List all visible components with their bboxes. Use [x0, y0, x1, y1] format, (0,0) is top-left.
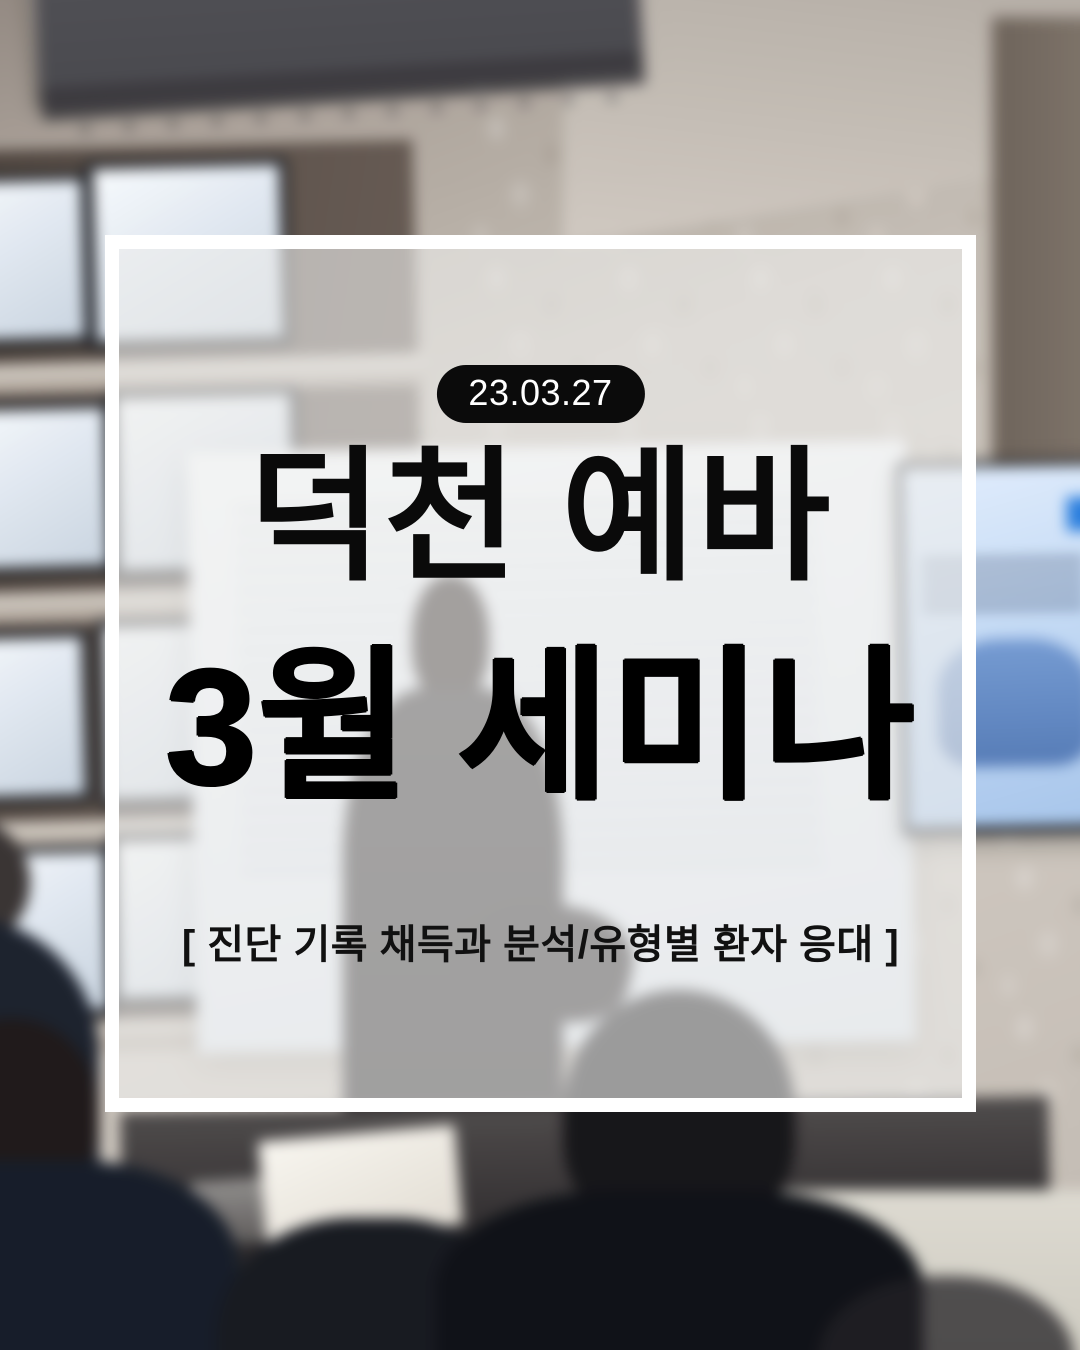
- framed-certificate: [0, 172, 92, 348]
- seminar-poster: 23.03.27 덕천 예바 3월 세미나 [ 진단 기록 채득과 분석/유형별…: [0, 0, 1080, 1350]
- framed-certificate: [0, 401, 115, 577]
- poster-title-line-2: 3월 세미나: [119, 645, 962, 810]
- date-badge: 23.03.27: [436, 365, 644, 423]
- framed-certificate: [0, 630, 92, 806]
- poster-content: 23.03.27 덕천 예바 3월 세미나 [ 진단 기록 채득과 분석/유형별…: [119, 249, 962, 1098]
- poster-title-line-1: 덕천 예바: [119, 445, 962, 590]
- poster-subtitle: [ 진단 기록 채득과 분석/유형별 환자 응대 ]: [119, 921, 962, 969]
- tv-slide-accent: [1066, 496, 1080, 530]
- door-frame-column: [992, 17, 1080, 503]
